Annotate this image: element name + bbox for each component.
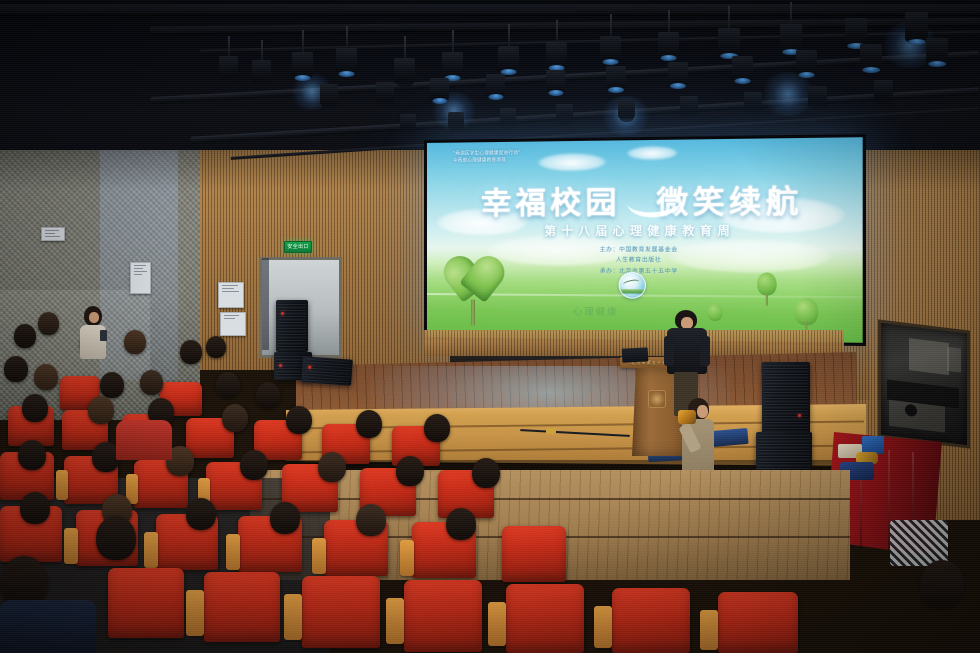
stage-light-27 — [448, 112, 464, 130]
audience-head-r1-5 — [180, 340, 202, 364]
light-hanger-2 — [261, 40, 263, 62]
heart-tree-canopy — [447, 255, 501, 306]
logo-grass-band — [620, 289, 645, 293]
light-hanger-8 — [556, 20, 558, 44]
notice-right-upper — [218, 282, 244, 308]
light-hanger-3 — [302, 30, 304, 54]
stage-light-29 — [556, 104, 573, 123]
doorway-inner-shadow — [262, 258, 269, 350]
audience-head-r1-6 — [206, 336, 226, 358]
stage-light-11 — [718, 28, 740, 56]
seat-arm-r6-1 — [186, 590, 204, 636]
pa-power-led-right-top — [798, 414, 801, 417]
audience-head-r5-5 — [356, 504, 386, 536]
light-hanger-5 — [404, 36, 406, 60]
stage-light-6 — [442, 52, 463, 78]
audience-head-r1-1 — [14, 324, 36, 348]
stage-light-3 — [292, 52, 313, 78]
light-hanger-4 — [346, 26, 348, 50]
speaker-left-arm — [664, 336, 674, 366]
seat-arm-r5-5 — [400, 540, 414, 576]
seat-arm-r5-1 — [64, 528, 78, 564]
seat-arm-r6-4 — [488, 602, 506, 646]
photographer-face — [697, 405, 708, 418]
audience-head-foreground-mid — [96, 516, 136, 560]
stage-light-16 — [376, 82, 394, 104]
exit-sign-label: 安全出口 — [287, 245, 309, 250]
stage-light-18 — [486, 74, 505, 97]
audience-head-bottom-right — [920, 560, 964, 608]
seat-arm-r6-6 — [700, 610, 718, 650]
audience-head-r5-6 — [446, 508, 476, 540]
stage-light-13 — [845, 18, 867, 46]
seat-arm-r5-4 — [312, 538, 326, 574]
stage-light-26 — [400, 114, 416, 132]
stage-light-2 — [252, 60, 271, 84]
bird-icon — [622, 278, 640, 287]
stage-light-1 — [219, 56, 238, 80]
stage-light-23 — [796, 50, 817, 75]
pa-power-led-left-mid — [279, 364, 282, 367]
light-hanger-7 — [508, 24, 510, 48]
seat-arm-r5-2 — [144, 532, 158, 568]
stage-light-9 — [600, 36, 621, 62]
background-tree-1-trunk — [766, 293, 768, 306]
stage-light-12 — [780, 24, 802, 52]
stage-light-33 — [808, 86, 827, 107]
speaker-right-arm — [700, 336, 710, 366]
stage-light-25 — [926, 38, 948, 64]
audience-head-r5-4 — [270, 502, 300, 534]
pa-grille-left-floor — [303, 358, 350, 383]
audience-head-r3-5 — [286, 406, 312, 434]
seat-arm-r6-3 — [386, 598, 404, 644]
stage-light-32 — [744, 92, 762, 112]
podium-laptop — [622, 347, 649, 362]
seat-r6-2 — [204, 572, 280, 642]
ceiling-beam-1 — [0, 4, 980, 14]
booth-pane-right — [947, 347, 961, 373]
led-backdrop-screen: "两湖区学生心理健康促进行动" 中西部心理健康教育项目 幸福校园微笑续航 第十八… — [424, 134, 866, 346]
stage-cable-connector — [546, 428, 556, 434]
seat-r6-6 — [612, 588, 690, 653]
person-standing-left-wall — [78, 306, 108, 368]
notice-right-lower — [220, 312, 246, 336]
seat-arm-r4-1 — [56, 470, 68, 500]
stage-light-4 — [336, 48, 357, 74]
led-screen-content: "两湖区学生心理健康促进行动" 中西部心理健康教育项目 幸福校园微笑续航 第十八… — [427, 137, 863, 343]
pa-grille-left-top — [278, 302, 306, 350]
screen-watermark: 心理健康 — [573, 304, 619, 318]
seat-arm-r6-2 — [284, 594, 302, 640]
audience-shoulders-foreground-left — [0, 600, 96, 653]
seat-r6-1 — [108, 568, 184, 638]
pa-grille-right-top — [764, 364, 808, 432]
audience-head-r5-3 — [186, 498, 216, 530]
stage-light-24 — [860, 44, 882, 70]
seat-arm-r6-5 — [594, 606, 612, 648]
stage-light-34 — [874, 80, 893, 101]
audience-head-r2-1 — [4, 356, 28, 382]
seat-r6-3 — [302, 576, 380, 648]
pa-speaker-left-floor — [301, 356, 353, 385]
stage-light-30 — [618, 100, 635, 119]
light-hanger-12 — [790, 2, 792, 26]
audience-head-r3-2 — [88, 396, 114, 424]
booth-pane-lower — [889, 400, 945, 433]
stage-light-19 — [546, 70, 565, 93]
stage-light-10 — [658, 32, 679, 58]
light-hanger-6 — [452, 30, 454, 54]
audience-head-r3-7 — [424, 414, 450, 442]
stage-light-22 — [732, 56, 753, 81]
exit-sign: 安全出口 — [284, 241, 312, 253]
cloud-2 — [627, 146, 678, 160]
stage-light-17 — [430, 78, 449, 101]
seat-arm-r5-3 — [226, 534, 240, 570]
pa-speaker-left-top — [276, 300, 308, 352]
audience-head-r1-4 — [124, 330, 146, 354]
audience-head-r4-7 — [472, 458, 500, 488]
standing-person-face — [89, 312, 99, 323]
audience-head-r3-4 — [222, 404, 248, 432]
stage-light-21 — [668, 62, 688, 86]
audience-red-top-person — [116, 420, 172, 460]
screen-subtitle: 第十八届心理健康教育周 — [427, 222, 863, 239]
seat-r5-7 — [502, 526, 566, 582]
stage-light-5 — [394, 58, 415, 84]
audience-head-r4-4 — [240, 450, 268, 480]
heart-tree-trunk — [471, 299, 475, 325]
light-hanger-1 — [228, 36, 230, 58]
auditorium-photo: 安全出口 — [0, 0, 980, 653]
audience-head-r2-2 — [34, 364, 58, 390]
stage-light-28 — [500, 108, 516, 126]
audience-head-r3-1 — [22, 394, 48, 422]
stage-light-15 — [320, 84, 338, 106]
notice-left — [41, 227, 65, 241]
notice-center — [130, 262, 151, 294]
light-hanger-11 — [728, 6, 730, 30]
stage-light-20 — [606, 66, 626, 90]
audience-head-r4-5 — [318, 452, 346, 482]
light-hanger-10 — [668, 10, 670, 34]
step-edge-1 — [250, 498, 850, 500]
screen-title-left: 幸福校园 — [481, 186, 621, 222]
stage-light-8 — [546, 42, 567, 68]
audience-head-r4-6 — [396, 456, 424, 486]
stage-light-31 — [680, 96, 698, 116]
booth-pane-upper — [909, 338, 949, 375]
pa-power-led-left-top — [281, 312, 284, 315]
seat-r6-4 — [404, 580, 482, 652]
audience-head-r2-4 — [140, 370, 163, 395]
audience-head-r3-6 — [356, 410, 382, 438]
audience-head-r5-1 — [20, 492, 50, 524]
control-booth-window — [878, 319, 970, 448]
audience-head-r2-5 — [216, 372, 240, 398]
audience-head-r2-6 — [256, 382, 280, 408]
screen-header-text: "两湖区学生心理健康促进行动" 中西部心理健康教育项目 — [453, 150, 606, 165]
pa-speaker-right-top — [762, 362, 810, 434]
audience-head-r4-1 — [18, 440, 46, 470]
audience-head-r1-2 — [38, 312, 59, 335]
audience-head-r2-3 — [100, 372, 124, 398]
stage-light-14 — [905, 12, 928, 42]
light-hanger-9 — [610, 14, 612, 38]
camera-in-hands — [678, 410, 696, 424]
background-tree-1 — [757, 272, 777, 295]
phone-in-hand-icon — [100, 330, 107, 341]
seat-r6-7 — [718, 592, 798, 653]
stage-light-7 — [498, 46, 519, 72]
seat-r6-5 — [506, 584, 584, 653]
